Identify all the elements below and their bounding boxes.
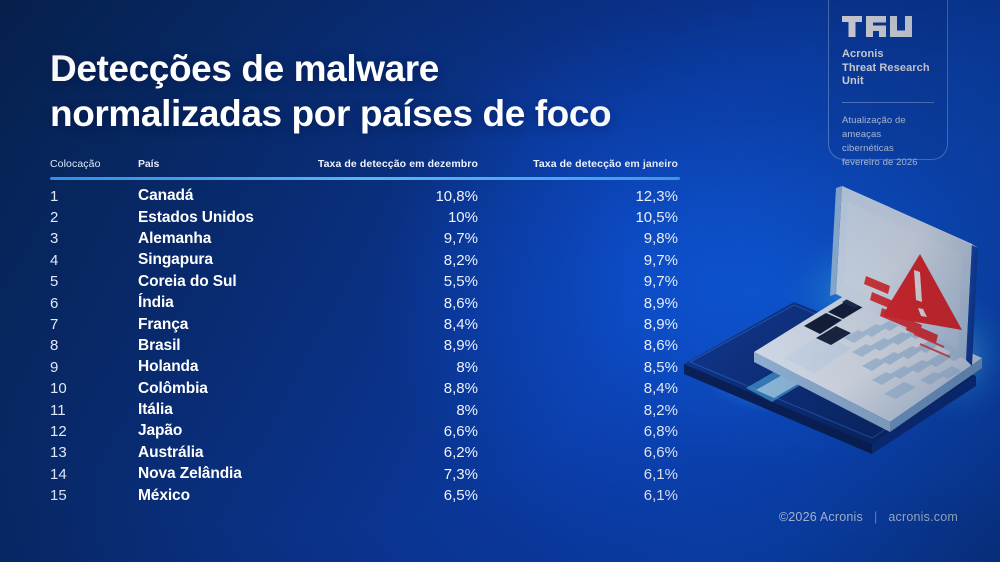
cell-december: 8% bbox=[288, 359, 478, 376]
cell-country: Japão bbox=[138, 422, 288, 440]
cell-rank: 9 bbox=[50, 359, 138, 376]
cell-country: Brasil bbox=[138, 337, 288, 355]
table-row: 10Colômbia8,8%8,4% bbox=[50, 378, 680, 399]
cell-january: 6,1% bbox=[478, 466, 678, 483]
cell-december: 8,8% bbox=[288, 380, 478, 397]
footer-separator: | bbox=[874, 510, 877, 524]
detection-rate-table: Colocação País Taxa de detecção em dezem… bbox=[50, 158, 680, 506]
cell-december: 8,6% bbox=[288, 295, 478, 312]
cell-december: 10,8% bbox=[288, 188, 478, 205]
cell-december: 10% bbox=[288, 209, 478, 226]
cell-december: 8% bbox=[288, 402, 478, 419]
cell-january: 9,7% bbox=[478, 252, 678, 269]
page-title: Detecções de malware normalizadas por pa… bbox=[50, 46, 750, 136]
table-row: 2Estados Unidos10%10,5% bbox=[50, 207, 680, 228]
tru-wordmark-icon bbox=[842, 16, 912, 37]
cell-rank: 11 bbox=[50, 402, 138, 419]
badge-subtitle-line-3: fevereiro de 2026 bbox=[842, 156, 934, 170]
laptop-malware-warning-illustration bbox=[676, 176, 1000, 466]
badge-subtitle-line-2: ameaças cibernéticas bbox=[842, 128, 934, 156]
cell-country: Singapura bbox=[138, 251, 288, 269]
table-header-row: Colocação País Taxa de detecção em dezem… bbox=[50, 158, 680, 177]
cell-december: 6,2% bbox=[288, 444, 478, 461]
table-row: 5Coreia do Sul5,5%9,7% bbox=[50, 271, 680, 292]
cell-december: 8,4% bbox=[288, 316, 478, 333]
cell-country: Alemanha bbox=[138, 230, 288, 248]
cell-january: 6,1% bbox=[478, 487, 678, 504]
cell-january: 10,5% bbox=[478, 209, 678, 226]
footer-website-link[interactable]: acronis.com bbox=[888, 510, 958, 524]
cell-country: Canadá bbox=[138, 187, 288, 205]
footer-copyright: ©2026 Acronis bbox=[779, 510, 863, 524]
cell-country: Itália bbox=[138, 401, 288, 419]
cell-country: Índia bbox=[138, 294, 288, 312]
badge-divider bbox=[842, 102, 934, 103]
badge-subtitle-line-1: Atualização de bbox=[842, 114, 934, 128]
page-title-line-1: Detecções de malware bbox=[50, 46, 750, 91]
cell-january: 8,2% bbox=[478, 402, 678, 419]
table-row: 13Austrália6,2%6,6% bbox=[50, 442, 680, 463]
cell-december: 9,7% bbox=[288, 230, 478, 247]
cell-rank: 3 bbox=[50, 230, 138, 247]
badge-org-line-1: Acronis bbox=[842, 48, 934, 62]
cell-country: México bbox=[138, 487, 288, 505]
cell-rank: 2 bbox=[50, 209, 138, 226]
cell-december: 6,5% bbox=[288, 487, 478, 504]
table-row: 8Brasil8,9%8,6% bbox=[50, 335, 680, 356]
cell-rank: 8 bbox=[50, 337, 138, 354]
column-header-country: País bbox=[138, 158, 288, 170]
cell-country: Holanda bbox=[138, 358, 288, 376]
badge-subtitle: Atualização de ameaças cibernéticas feve… bbox=[842, 114, 934, 170]
cell-december: 6,6% bbox=[288, 423, 478, 440]
badge-org-name: Acronis Threat Research Unit bbox=[842, 48, 934, 89]
cell-january: 8,4% bbox=[478, 380, 678, 397]
cell-december: 7,3% bbox=[288, 466, 478, 483]
badge-org-line-3: Unit bbox=[842, 75, 934, 89]
cell-december: 5,5% bbox=[288, 273, 478, 290]
cell-january: 9,7% bbox=[478, 273, 678, 290]
footer: ©2026 Acronis | acronis.com bbox=[779, 510, 958, 524]
cell-country: Estados Unidos bbox=[138, 209, 288, 227]
table-row: 14Nova Zelândia7,3%6,1% bbox=[50, 464, 680, 485]
badge-org-line-2: Threat Research bbox=[842, 62, 934, 76]
cell-rank: 5 bbox=[50, 273, 138, 290]
column-header-rank: Colocação bbox=[50, 158, 138, 170]
table-row: 11Itália8%8,2% bbox=[50, 399, 680, 420]
cell-country: Austrália bbox=[138, 444, 288, 462]
cell-country: Colômbia bbox=[138, 380, 288, 398]
cell-country: Coreia do Sul bbox=[138, 273, 288, 291]
slide-canvas: Detecções de malware normalizadas por pa… bbox=[0, 0, 1000, 562]
cell-december: 8,9% bbox=[288, 337, 478, 354]
cell-country: Nova Zelândia bbox=[138, 465, 288, 483]
cell-january: 12,3% bbox=[478, 188, 678, 205]
table-row: 15México6,5%6,1% bbox=[50, 485, 680, 506]
page-title-line-2: normalizadas por países de foco bbox=[50, 91, 750, 136]
table-row: 4Singapura8,2%9,7% bbox=[50, 250, 680, 271]
cell-january: 8,6% bbox=[478, 337, 678, 354]
cell-january: 8,9% bbox=[478, 316, 678, 333]
cell-january: 8,5% bbox=[478, 359, 678, 376]
tru-badge: Acronis Threat Research Unit Atualização… bbox=[828, 0, 948, 160]
column-header-january: Taxa de detecção em janeiro bbox=[478, 158, 678, 170]
cell-rank: 1 bbox=[50, 188, 138, 205]
cell-january: 8,9% bbox=[478, 295, 678, 312]
cell-rank: 12 bbox=[50, 423, 138, 440]
cell-rank: 7 bbox=[50, 316, 138, 333]
table-row: 9Holanda8%8,5% bbox=[50, 357, 680, 378]
cell-rank: 4 bbox=[50, 252, 138, 269]
cell-january: 9,8% bbox=[478, 230, 678, 247]
cell-rank: 14 bbox=[50, 466, 138, 483]
cell-december: 8,2% bbox=[288, 252, 478, 269]
cell-january: 6,6% bbox=[478, 444, 678, 461]
cell-rank: 6 bbox=[50, 295, 138, 312]
table-row: 6Índia8,6%8,9% bbox=[50, 292, 680, 313]
table-row: 1Canadá10,8%12,3% bbox=[50, 186, 680, 207]
table-row: 7França8,4%8,9% bbox=[50, 314, 680, 335]
table-row: 12Japão6,6%6,8% bbox=[50, 421, 680, 442]
cell-rank: 10 bbox=[50, 380, 138, 397]
table-row: 3Alemanha9,7%9,8% bbox=[50, 228, 680, 249]
cell-rank: 13 bbox=[50, 444, 138, 461]
column-header-december: Taxa de detecção em dezembro bbox=[288, 158, 478, 170]
cell-january: 6,8% bbox=[478, 423, 678, 440]
cell-rank: 15 bbox=[50, 487, 138, 504]
cell-country: França bbox=[138, 316, 288, 334]
table-body: 1Canadá10,8%12,3%2Estados Unidos10%10,5%… bbox=[50, 180, 680, 507]
